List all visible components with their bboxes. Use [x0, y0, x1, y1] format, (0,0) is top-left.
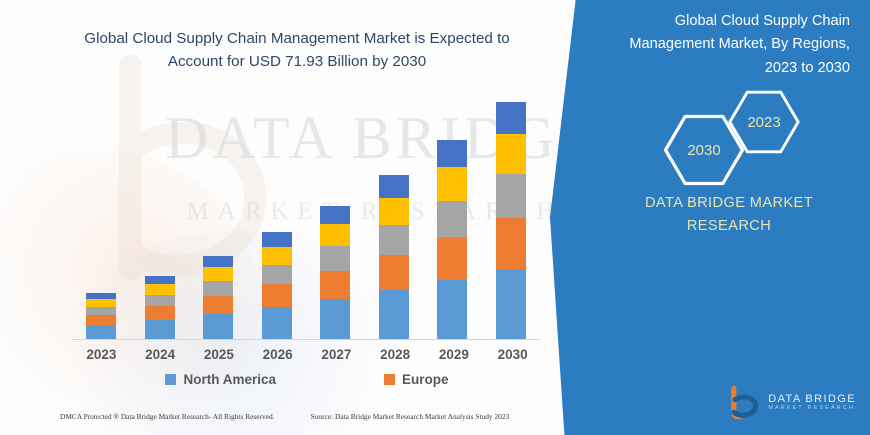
bar-segment: [86, 299, 116, 307]
bar-segment: [379, 225, 409, 255]
x-axis-label: 2023: [72, 347, 130, 362]
bar-segment: [262, 247, 292, 265]
stacked-bar: [203, 256, 233, 339]
bar-segment: [320, 206, 350, 224]
legend-item[interactable]: North America: [165, 372, 276, 387]
chart-legend: North AmericaEurope: [72, 372, 542, 387]
bar-segment: [203, 256, 233, 267]
bar-segment: [437, 280, 467, 339]
brand-name: DATA BRIDGE MARKET RESEARCH: [624, 192, 834, 237]
legend-label: Europe: [402, 372, 449, 387]
bar-segment: [320, 224, 350, 246]
page-title-line1: Global Cloud Supply Chain Management Mar…: [62, 28, 532, 51]
bar-segment: [262, 232, 292, 246]
bar-segment: [203, 267, 233, 281]
page-title-line2: Account for USD 71.93 Billion by 2030: [62, 51, 532, 74]
bar-column: [189, 95, 247, 339]
bar-segment: [145, 320, 175, 339]
x-axis-line: [72, 339, 540, 340]
bar-segment: [320, 271, 350, 300]
bar-segment: [203, 314, 233, 339]
page-title: Global Cloud Supply Chain Management Mar…: [62, 28, 532, 74]
bar-column: [72, 95, 130, 339]
legend-swatch: [165, 374, 176, 385]
bar-column: [423, 95, 481, 339]
x-axis-label: 2024: [131, 347, 189, 362]
panel-title-line3: 2023 to 2030: [615, 57, 850, 80]
x-axis-label: 2030: [484, 347, 542, 362]
bar-segment: [320, 299, 350, 339]
x-axis-label: 2029: [425, 347, 483, 362]
bar-segment: [262, 284, 292, 307]
legend-label: North America: [183, 372, 276, 387]
bar-segment: [379, 255, 409, 290]
x-axis-label: 2028: [366, 347, 424, 362]
bar-column: [131, 95, 189, 339]
footer-source: Source: Data Bridge Market Research Mark…: [311, 412, 510, 421]
bar-segment: [496, 269, 526, 339]
bar-segment: [496, 134, 526, 174]
bar-segment: [437, 201, 467, 237]
footer: DMCA Protected ® Data Bridge Market Rese…: [60, 412, 580, 421]
bar-column: [365, 95, 423, 339]
x-axis-label: 2026: [249, 347, 307, 362]
logo-text: DATA BRIDGE MARKET RESEARCH: [768, 393, 856, 412]
panel-title-line1: Global Cloud Supply Chain: [615, 10, 850, 33]
bar-segment: [145, 284, 175, 295]
stacked-bar: [86, 293, 116, 339]
hexagon-badge-2023: 2023: [726, 90, 802, 154]
bar-segment: [145, 295, 175, 307]
stacked-bar: [379, 175, 409, 339]
stacked-bar: [437, 140, 467, 339]
bar-segment: [86, 307, 116, 315]
brand-line2: RESEARCH: [624, 215, 834, 238]
company-logo: DATA BRIDGE MARKET RESEARCH: [727, 385, 856, 419]
x-axis-labels: 20232024202520262027202820292030: [72, 347, 542, 362]
bar-segment: [379, 175, 409, 197]
hexagon-badges: 2030 2023: [650, 90, 830, 185]
bar-segment: [86, 325, 116, 339]
bar-column: [482, 95, 540, 339]
bar-segment: [203, 296, 233, 314]
bar-segment: [203, 281, 233, 296]
bar-segment: [437, 140, 467, 167]
bar-segment: [262, 307, 292, 339]
bar-segment: [86, 315, 116, 325]
bar-group: [72, 95, 540, 339]
bar-segment: [437, 237, 467, 280]
logo-main-text: DATA BRIDGE: [768, 393, 856, 406]
bridge-b-logo-icon: [727, 385, 761, 419]
bar-column: [306, 95, 364, 339]
panel-title: Global Cloud Supply Chain Management Mar…: [615, 10, 850, 80]
stacked-bar: [262, 232, 292, 339]
x-axis-label: 2027: [307, 347, 365, 362]
bar-segment: [496, 218, 526, 269]
bar-segment: [320, 246, 350, 270]
legend-item[interactable]: Europe: [384, 372, 449, 387]
bar-segment: [145, 276, 175, 284]
legend-swatch: [384, 374, 395, 385]
bar-column: [248, 95, 306, 339]
footer-copyright: DMCA Protected ® Data Bridge Market Rese…: [60, 412, 275, 421]
bar-segment: [437, 167, 467, 201]
stacked-bar-chart: [72, 95, 542, 340]
x-axis-label: 2025: [190, 347, 248, 362]
logo-sub-text: MARKET RESEARCH: [768, 405, 856, 411]
stacked-bar: [145, 276, 175, 339]
brand-line1: DATA BRIDGE MARKET: [624, 192, 834, 215]
bar-segment: [145, 306, 175, 320]
infographic-canvas: DATA BRIDGE MARKET RESEARCH Global Cloud…: [0, 0, 870, 435]
bar-segment: [496, 174, 526, 218]
bar-segment: [379, 290, 409, 339]
panel-title-line2: Management Market, By Regions,: [615, 33, 850, 56]
bar-segment: [379, 198, 409, 226]
hexagon-badge-2023-label: 2023: [726, 90, 802, 154]
bar-segment: [262, 265, 292, 285]
bar-segment: [496, 102, 526, 134]
stacked-bar: [320, 206, 350, 339]
stacked-bar: [496, 102, 526, 339]
